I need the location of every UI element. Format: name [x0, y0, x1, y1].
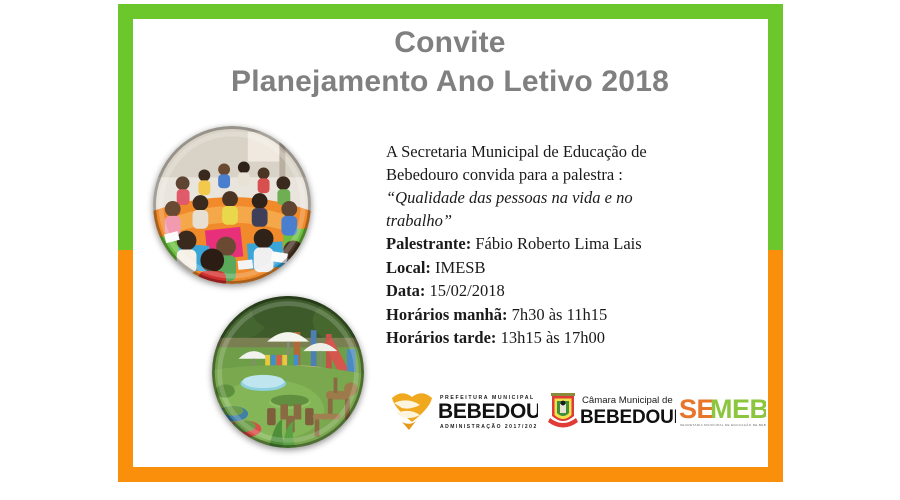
detail-palestrante-value: Fábio Roberto Lima Lais	[471, 234, 641, 253]
detail-data-value: 15/02/2018	[425, 281, 504, 300]
playground-outdoor-photo	[212, 296, 364, 448]
lecture-quote-last: trabalho”	[386, 209, 754, 232]
invitation-poster: Convite Planejamento Ano Letivo 2018	[0, 0, 900, 500]
title-line-convite: Convite	[140, 24, 760, 62]
camara-line-main: BEBEDOURO	[580, 407, 676, 428]
detail-horarios-manha: Horários manhã: 7h30 às 11h15	[386, 303, 754, 327]
detail-horarios-manha-value: 7h30 às 11h15	[507, 305, 607, 324]
title-line-planejamento: Planejamento Ano Letivo 2018	[140, 62, 760, 102]
prefeitura-bebedouro-logo: PREFEITURA MUNICIPAL DE BEBEDOURO ADMINI…	[386, 386, 538, 434]
semeb-logo: SE MEB SECRETARIA MUNICIPAL DE EDUCAÇÃO …	[678, 386, 766, 434]
border-left-orange	[118, 250, 133, 482]
lecture-title-quote: “Qualidade das pessoas na vida e no trab…	[386, 186, 754, 232]
detail-local-value: IMESB	[431, 258, 486, 277]
camara-line-top: Câmara Municipal de	[582, 395, 673, 406]
detail-palestrante: Palestrante: Fábio Roberto Lima Lais	[386, 232, 754, 256]
border-right-orange	[768, 250, 783, 482]
semeb-part-green: MEB	[710, 394, 766, 424]
prefeitura-line-main: BEBEDOURO	[438, 400, 538, 423]
semeb-part-orange: SE	[679, 394, 714, 424]
detail-horarios-manha-label: Horários manhã:	[386, 305, 507, 324]
detail-horarios-tarde: Horários tarde: 13h15 às 17h00	[386, 326, 754, 350]
prefeitura-line-bottom: ADMINISTRAÇÃO 2017/2020	[440, 423, 538, 430]
detail-data: Data: 15/02/2018	[386, 279, 754, 303]
detail-horarios-tarde-value: 13h15 às 17h00	[496, 328, 605, 347]
poster-title: Convite Planejamento Ano Letivo 2018	[140, 24, 760, 102]
heart-icon	[392, 393, 432, 430]
lecture-quote-main: “Qualidade das pessoas na vida e no	[386, 188, 633, 207]
invitation-intro-last: Bebedouro convida para a palestra :	[386, 163, 754, 186]
detail-data-label: Data:	[386, 281, 425, 300]
invitation-intro-paragraph: A Secretaria Municipal de Educação de Be…	[386, 140, 754, 186]
border-left-green	[118, 4, 133, 252]
border-bottom-orange	[118, 467, 783, 482]
logo-row: PREFEITURA MUNICIPAL DE BEBEDOURO ADMINI…	[386, 386, 764, 434]
camara-municipal-bebedouro-logo: Câmara Municipal de BEBEDOURO	[548, 386, 676, 434]
classroom-children-photo	[153, 126, 311, 284]
coat-of-arms-icon	[548, 393, 578, 428]
detail-local: Local: IMESB	[386, 256, 754, 280]
detail-horarios-tarde-label: Horários tarde:	[386, 328, 496, 347]
detail-local-label: Local:	[386, 258, 431, 277]
semeb-tagline: SECRETARIA MUNICIPAL DE EDUCAÇÃO DE BEBE…	[680, 422, 766, 427]
border-right-green	[768, 4, 783, 252]
invitation-text: A Secretaria Municipal de Educação de Be…	[386, 140, 754, 350]
invitation-intro-main: A Secretaria Municipal de Educação de	[386, 142, 647, 161]
border-top-green	[118, 4, 783, 19]
detail-palestrante-label: Palestrante:	[386, 234, 471, 253]
